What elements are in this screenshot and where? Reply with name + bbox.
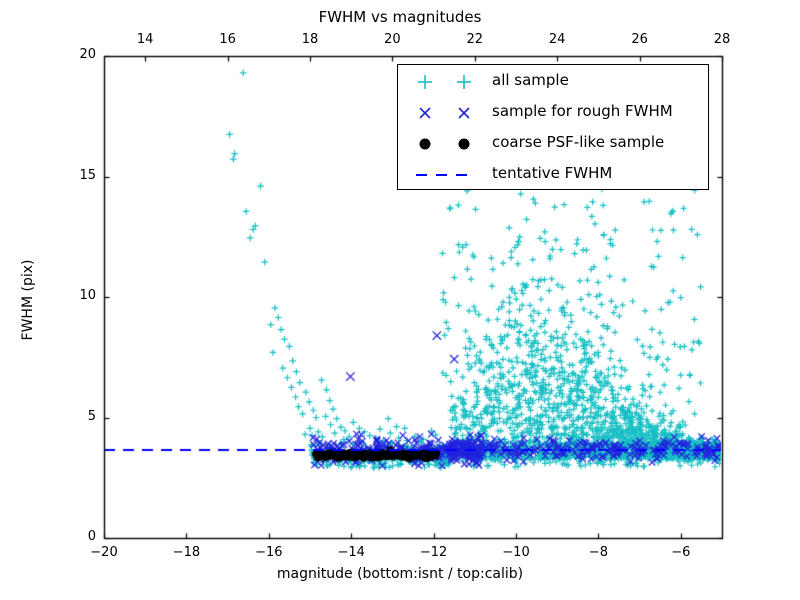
chart-title: FWHM vs magnitudes — [0, 8, 800, 26]
x-tick-top-18: 18 — [285, 32, 335, 47]
dashed-line-marker — [402, 160, 488, 191]
cross-marker — [402, 98, 488, 129]
x-tick-bottom--8: −8 — [573, 545, 623, 560]
x-tick-bottom--16: −16 — [244, 545, 294, 560]
legend: all sample sample for rough FWHM — [397, 64, 709, 190]
legend-item-all-sample: all sample — [398, 67, 710, 98]
legend-label-all-sample: all sample — [492, 71, 569, 89]
x-tick-top-28: 28 — [697, 32, 747, 47]
x-tick-top-16: 16 — [203, 32, 253, 47]
y-axis-label: FWHM (pix) — [20, 210, 36, 390]
x-tick-top-24: 24 — [532, 32, 582, 47]
legend-item-coarse-psf: coarse PSF-like sample — [398, 129, 710, 160]
legend-label-coarse-psf: coarse PSF-like sample — [492, 133, 664, 151]
y-tick-10: 10 — [56, 288, 96, 303]
x-tick-bottom--10: −10 — [491, 545, 541, 560]
legend-label-rough-fwhm: sample for rough FWHM — [492, 102, 673, 120]
legend-item-rough-fwhm: sample for rough FWHM — [398, 98, 710, 129]
legend-label-tentative-fwhm: tentative FWHM — [492, 164, 612, 182]
x-tick-top-22: 22 — [450, 32, 500, 47]
legend-item-tentative-fwhm: tentative FWHM — [398, 160, 710, 191]
x-tick-top-26: 26 — [615, 32, 665, 47]
plus-marker — [402, 67, 488, 98]
y-tick-20: 20 — [56, 47, 96, 62]
x-tick-bottom--12: −12 — [409, 545, 459, 560]
y-tick-0: 0 — [56, 529, 96, 544]
x-axis-label: magnitude (bottom:isnt / top:calib) — [0, 566, 800, 582]
y-tick-15: 15 — [56, 168, 96, 183]
x-tick-bottom--6: −6 — [656, 545, 706, 560]
x-tick-bottom--20: −20 — [79, 545, 129, 560]
y-tick-5: 5 — [56, 409, 96, 424]
figure: FWHM vs magnitudes magnitude (bottom:isn… — [0, 0, 800, 600]
x-tick-bottom--18: −18 — [161, 545, 211, 560]
x-tick-bottom--14: −14 — [326, 545, 376, 560]
x-tick-top-14: 14 — [120, 32, 170, 47]
dot-marker — [402, 129, 488, 160]
x-tick-top-20: 20 — [367, 32, 417, 47]
